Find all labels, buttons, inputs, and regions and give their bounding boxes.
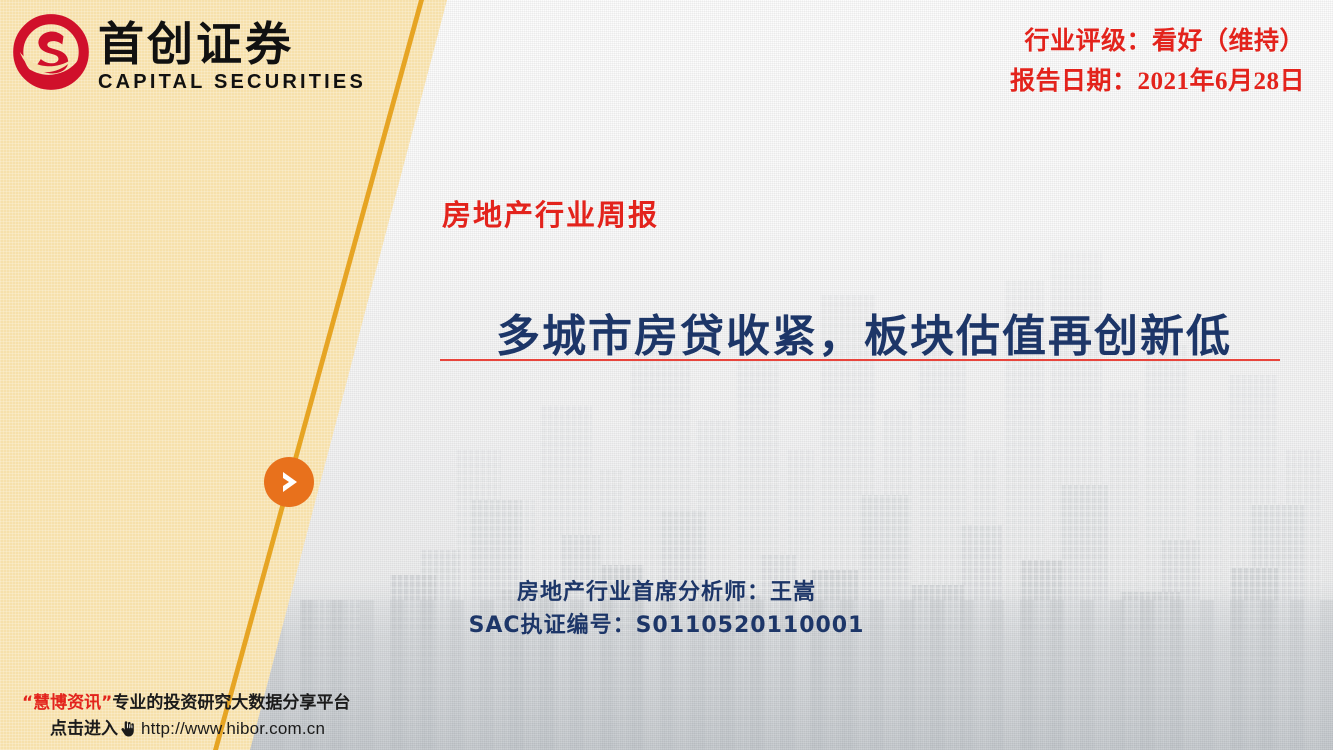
report-date: 报告日期：2021年6月28日 [1010,62,1305,102]
analyst-name-line: 房地产行业首席分析师：王嵩 [0,576,1333,609]
report-meta: 行业评级：看好（维持） 报告日期：2021年6月28日 [1010,22,1305,102]
chevron-right-icon [264,457,314,507]
footer-tagline-row: “慧博资讯”专业的投资研究大数据分享平台 [22,690,350,716]
footer-cta: 点击进入 [50,716,118,742]
footer-link-row[interactable]: 点击进入 http://www.hibor.com.cn [22,716,350,742]
brand-logo: 首创证券 CAPITAL SECURITIES [12,12,366,94]
brand-name-cn: 首创证券 [98,18,366,70]
footer-url[interactable]: http://www.hibor.com.cn [141,716,325,742]
hand-pointer-icon [119,719,139,739]
title-underline [440,359,1280,361]
footer-watermark: “慧博资讯”专业的投资研究大数据分享平台 点击进入 http://www.hib… [22,690,350,742]
analyst-block: 房地产行业首席分析师：王嵩 SAC执证编号：S0110520110001 [0,576,1333,642]
industry-rating: 行业评级：看好（维持） [1010,22,1305,62]
footer-brand: “慧博资讯” [22,693,112,713]
report-cover-page: 首创证券 CAPITAL SECURITIES 行业评级：看好（维持） 报告日期… [0,0,1333,750]
report-kicker: 房地产行业周报 [442,192,659,234]
footer-tagline: 专业的投资研究大数据分享平台 [112,693,350,713]
analyst-license-line: SAC执证编号：S0110520110001 [0,609,1333,642]
capital-securities-s-logo-icon [12,12,90,92]
page-title: 多城市房贷收紧，板块估值再创新低 [496,300,1232,364]
brand-name-en: CAPITAL SECURITIES [98,70,366,94]
